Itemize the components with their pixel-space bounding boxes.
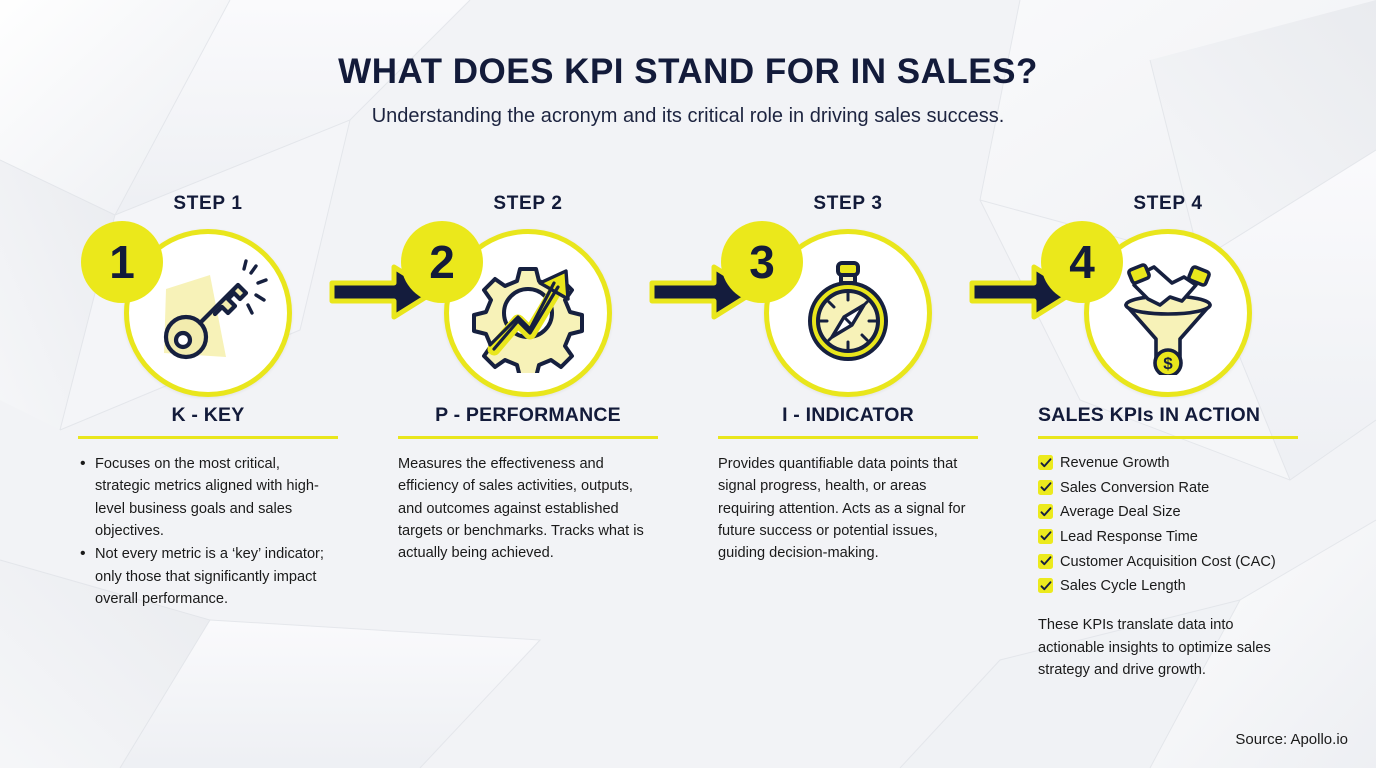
source-credit: Source: Apollo.io: [1235, 731, 1348, 748]
column-key-divider: [78, 436, 338, 439]
list-item: Sales Conversion Rate: [1038, 478, 1298, 499]
column-kpis-in-action: SALES KPIs IN ACTION Revenue Growth Sale…: [1038, 404, 1298, 681]
column-performance-heading: P - PERFORMANCE: [398, 404, 658, 427]
step-3-label: STEP 3: [718, 193, 978, 217]
column-performance: P - PERFORMANCE Measures the effectivene…: [398, 404, 658, 565]
step-4-label: STEP 4: [1038, 193, 1298, 217]
list-item: Customer Acquisition Cost (CAC): [1038, 552, 1298, 573]
list-item: Lead Response Time: [1038, 527, 1298, 548]
kpi-label: Lead Response Time: [1060, 527, 1198, 548]
kpi-label: Customer Acquisition Cost (CAC): [1060, 552, 1276, 573]
list-item: Revenue Growth: [1038, 453, 1298, 474]
check-icon: [1038, 504, 1053, 519]
column-performance-divider: [398, 436, 658, 439]
check-icon: [1038, 529, 1053, 544]
step-3: STEP 3 3: [718, 193, 978, 407]
column-key-heading: K - KEY: [78, 404, 338, 427]
step-4: STEP 4 $: [1038, 193, 1298, 407]
list-item: Focuses on the most critical, strategic …: [78, 453, 338, 542]
list-item: Sales Cycle Length: [1038, 576, 1298, 597]
kpi-closing-text: These KPIs translate data into actionabl…: [1038, 614, 1298, 681]
check-icon: [1038, 578, 1053, 593]
page-subtitle: Understanding the acronym and its critic…: [0, 105, 1376, 128]
step-1: STEP 1 1: [78, 193, 338, 407]
check-icon: [1038, 480, 1053, 495]
page-title: WHAT DOES KPI STAND FOR IN SALES?: [0, 52, 1376, 92]
column-key-bullets: Focuses on the most critical, strategic …: [78, 453, 338, 610]
step-2: STEP 2 2: [398, 193, 658, 407]
kpi-label: Revenue Growth: [1060, 453, 1170, 474]
step-1-number-badge: 1: [81, 221, 163, 303]
check-icon: [1038, 455, 1053, 470]
list-item: Not every metric is a ‘key’ indicator; o…: [78, 543, 338, 610]
step-1-label: STEP 1: [78, 193, 338, 217]
column-kpis-divider: [1038, 436, 1298, 439]
list-item: Average Deal Size: [1038, 502, 1298, 523]
kpi-checklist: Revenue Growth Sales Conversion Rate Ave…: [1038, 453, 1298, 597]
column-indicator-divider: [718, 436, 978, 439]
kpi-label: Average Deal Size: [1060, 502, 1181, 523]
steps-row: STEP 1 1 STEP 2: [0, 193, 1376, 413]
step-3-number-badge: 3: [721, 221, 803, 303]
column-performance-text: Measures the effectiveness and efficienc…: [398, 453, 658, 565]
column-indicator-text: Provides quantifiable data points that s…: [718, 453, 978, 565]
step-2-label: STEP 2: [398, 193, 658, 217]
kpi-label: Sales Conversion Rate: [1060, 478, 1209, 499]
svg-text:$: $: [1163, 354, 1173, 373]
kpi-label: Sales Cycle Length: [1060, 576, 1186, 597]
column-indicator: I - INDICATOR Provides quantifiable data…: [718, 404, 978, 565]
check-icon: [1038, 554, 1053, 569]
step-2-number-badge: 2: [401, 221, 483, 303]
step-4-number-badge: 4: [1041, 221, 1123, 303]
header: WHAT DOES KPI STAND FOR IN SALES? Unders…: [0, 0, 1376, 128]
column-indicator-heading: I - INDICATOR: [718, 404, 978, 427]
column-kpis-heading: SALES KPIs IN ACTION: [1038, 404, 1298, 427]
column-key: K - KEY Focuses on the most critical, st…: [78, 404, 338, 611]
